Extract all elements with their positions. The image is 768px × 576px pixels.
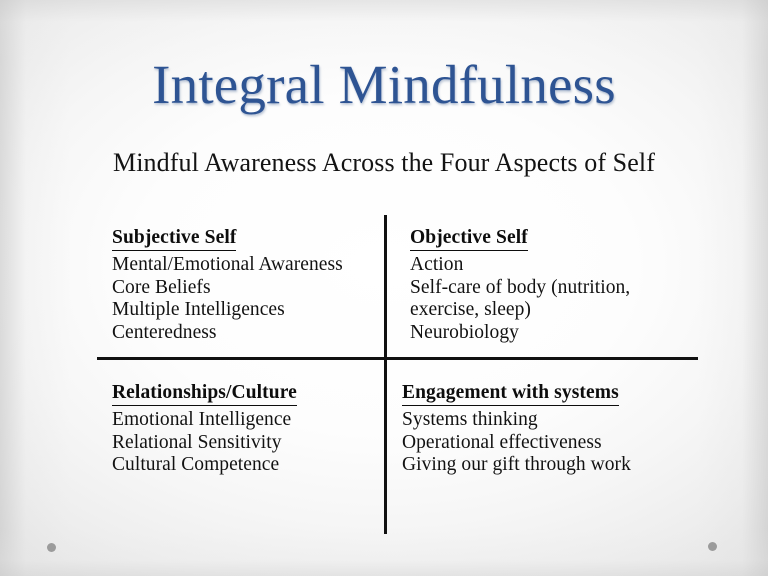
vertical-divider [384,215,387,534]
list-item: Self-care of body (nutrition, exercise, … [410,277,680,322]
list-item: Neurobiology [410,322,680,345]
list-item: Centeredness [112,322,377,345]
quadrant-list-relationships-culture: Emotional Intelligence Relational Sensit… [112,409,377,477]
decorative-dot-right [708,542,717,551]
list-item: Cultural Competence [112,454,377,477]
horizontal-divider [97,357,698,360]
list-item: Operational effectiveness [402,432,692,455]
quadrant-list-objective-self: Action Self-care of body (nutrition, exe… [410,254,680,344]
slide-canvas: Integral Mindfulness Mindful Awareness A… [0,0,768,576]
quadrant-engagement-with-systems: Engagement with systems Systems thinking… [402,381,692,477]
quadrant-relationships-culture: Relationships/Culture Emotional Intellig… [112,381,377,477]
list-item: Emotional Intelligence [112,409,377,432]
quadrant-objective-self: Objective Self Action Self-care of body … [410,226,680,344]
list-item: Action [410,254,680,277]
list-item: Relational Sensitivity [112,432,377,455]
list-item: Giving our gift through work [402,454,692,477]
list-item: Multiple Intelligences [112,299,377,322]
quadrant-heading-objective-self: Objective Self [410,226,528,251]
quadrant-list-subjective-self: Mental/Emotional Awareness Core Beliefs … [112,254,377,344]
page-subtitle: Mindful Awareness Across the Four Aspect… [0,148,768,178]
quadrant-heading-engagement-with-systems: Engagement with systems [402,381,619,406]
quadrant-heading-subjective-self: Subjective Self [112,226,236,251]
page-title: Integral Mindfulness [0,56,768,113]
list-item: Systems thinking [402,409,692,432]
list-item: Core Beliefs [112,277,377,300]
quadrant-heading-relationships-culture: Relationships/Culture [112,381,297,406]
list-item: Mental/Emotional Awareness [112,254,377,277]
quadrant-list-engagement-with-systems: Systems thinking Operational effectivene… [402,409,692,477]
quadrant-subjective-self: Subjective Self Mental/Emotional Awarene… [112,226,377,344]
decorative-dot-left [47,543,56,552]
